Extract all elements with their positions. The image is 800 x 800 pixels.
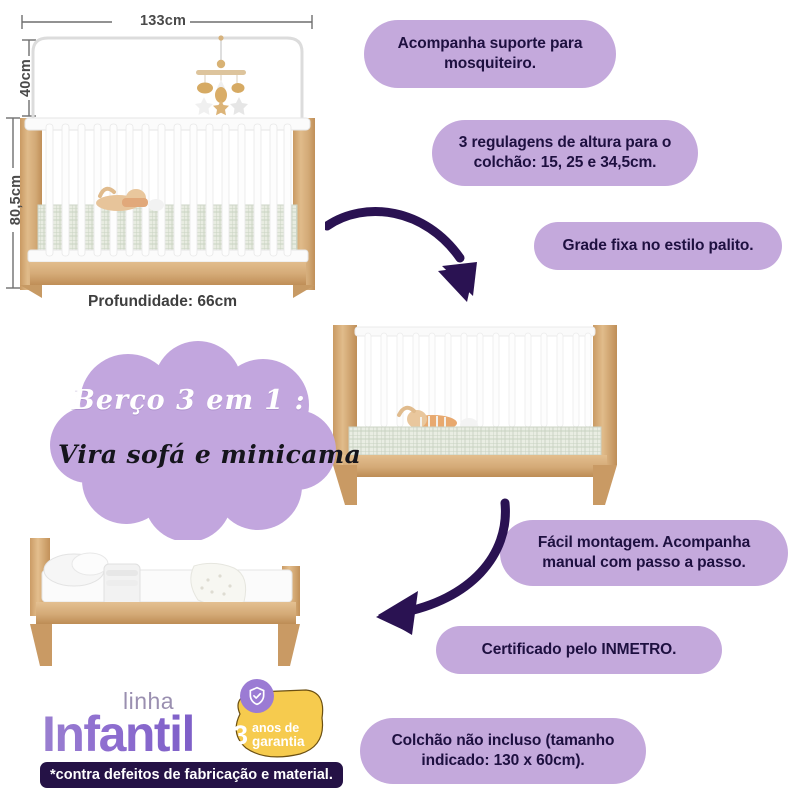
mini-bed-illustration bbox=[12, 528, 322, 678]
callout-mattress-heights[interactable]: 3 regulagens de altura para o colchão: 1… bbox=[432, 120, 698, 186]
arrow-crib-to-sofa-icon bbox=[325, 178, 525, 318]
crib-height-label: 80,5cm bbox=[8, 162, 24, 238]
warranty-badge-line1: anos de bbox=[252, 722, 299, 735]
warranty-badge-number: 3 bbox=[233, 722, 248, 749]
canopy-height-label: 40cm bbox=[18, 49, 34, 107]
mosquito-net-support bbox=[33, 38, 302, 120]
crib-body bbox=[20, 118, 315, 298]
warranty-footnote: *contra defeitos de fabricação e materia… bbox=[40, 762, 343, 788]
width-dimension-label: 133cm bbox=[140, 13, 186, 29]
arrow-sofa-to-bed-icon bbox=[330, 495, 530, 645]
callout-fixed-rail[interactable]: Grade fixa no estilo palito. bbox=[534, 222, 782, 270]
logo-wordmark: Infantil bbox=[42, 705, 194, 763]
shield-check-icon bbox=[240, 679, 274, 713]
cloud-line-1: Berço 3 em 1 : bbox=[72, 385, 306, 416]
cloud-line-2: Vira sofá e minicama bbox=[58, 440, 361, 469]
daybed-sofa-illustration bbox=[325, 315, 625, 510]
callout-easy-assembly[interactable]: Fácil montagem. Acompanha manual com pas… bbox=[500, 520, 788, 586]
callout-mattress-not-included[interactable]: Colchão não incluso (tamanho indicado: 1… bbox=[360, 718, 646, 784]
infographic-canvas: 133cm 40cm 80,5cm Profundidade: 66cm Aco… bbox=[0, 0, 800, 800]
lace-throw bbox=[191, 563, 246, 605]
depth-label: Profundidade: 66cm bbox=[88, 293, 237, 311]
warranty-badge-line2: garantia bbox=[252, 735, 305, 749]
crib-with-canopy-illustration bbox=[0, 0, 350, 300]
baby-mobile-icon bbox=[195, 35, 248, 115]
callout-mosquito-support[interactable]: Acompanha suporte para mosquiteiro. bbox=[364, 20, 616, 88]
plush-toy bbox=[96, 189, 164, 211]
